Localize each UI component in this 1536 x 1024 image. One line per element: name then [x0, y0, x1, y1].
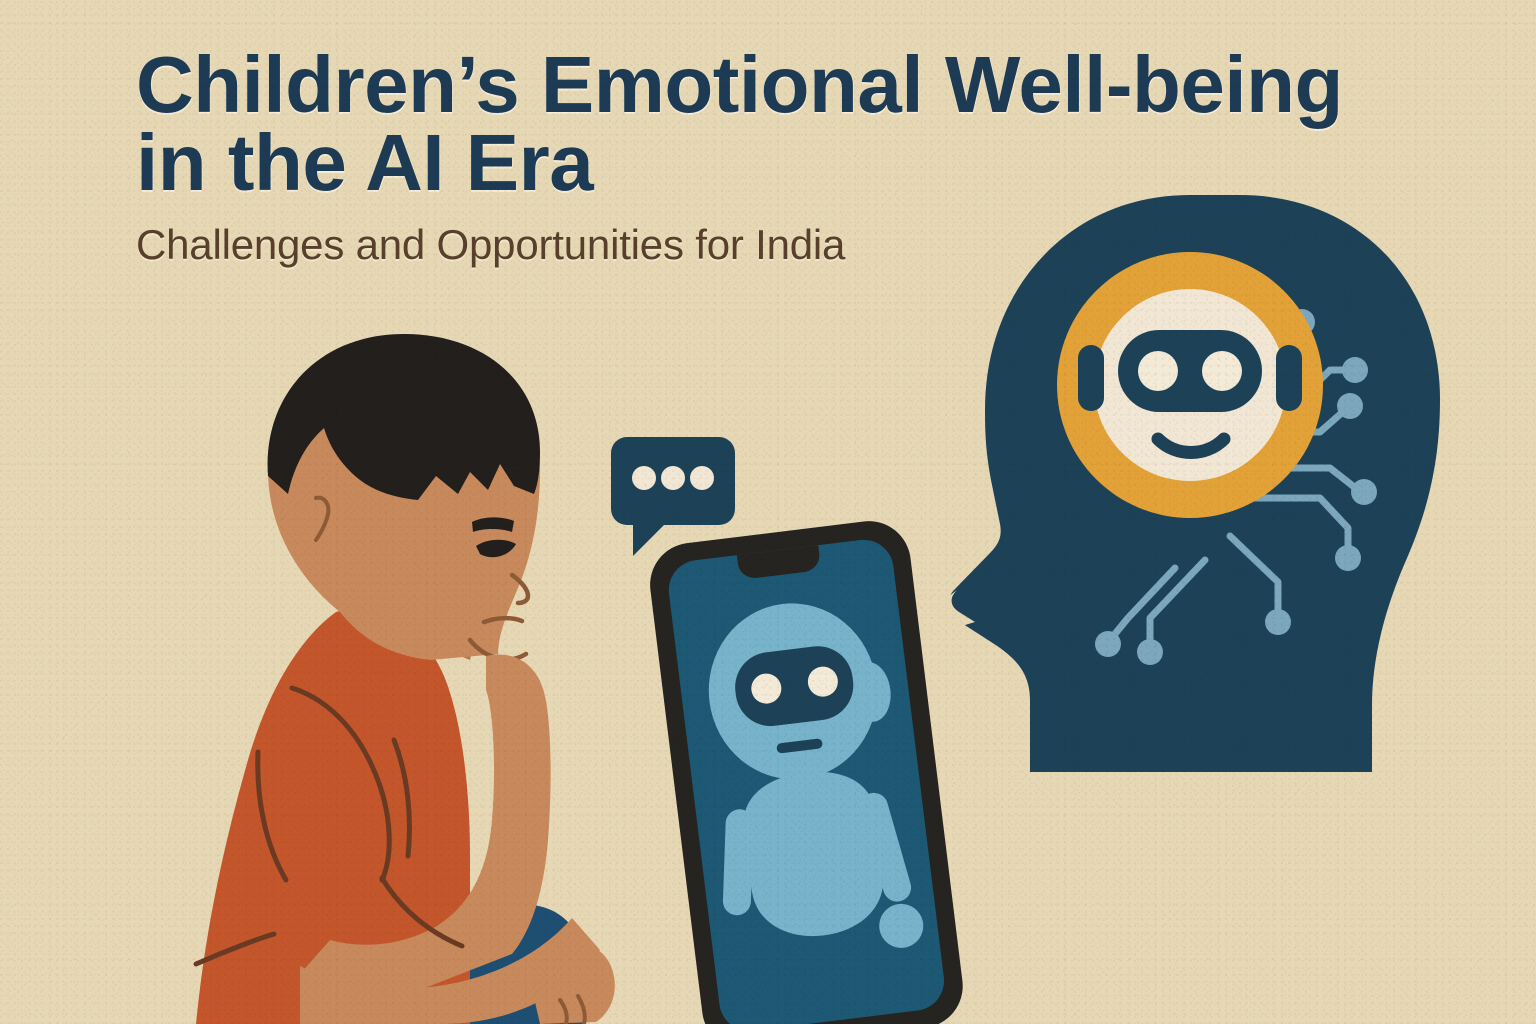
- smartphone[interactable]: [645, 516, 967, 1024]
- title-block: Children’s Emotional Well-being in the A…: [136, 46, 1536, 269]
- bubble-dot-2: [661, 466, 685, 490]
- typing-speech-bubble: [611, 437, 735, 556]
- robot-ear-left: [1078, 345, 1104, 411]
- page-title-line-2: in the AI Era: [136, 124, 1536, 202]
- page-title-line-1: Children’s Emotional Well-being: [136, 46, 1536, 124]
- chatbot-arm-left: [722, 809, 754, 916]
- page-subtitle: Challenges and Opportunities for India: [136, 221, 1536, 269]
- bubble-dot-3: [690, 466, 714, 490]
- poster-canvas: Children’s Emotional Well-being in the A…: [0, 0, 1536, 1024]
- robot-ear-right: [1276, 345, 1302, 411]
- robot-eye-right: [1202, 351, 1242, 391]
- bubble-dot-1: [632, 466, 656, 490]
- ai-badge: [1057, 252, 1323, 518]
- pensive-child: [196, 334, 615, 1024]
- robot-eye-left: [1138, 351, 1178, 391]
